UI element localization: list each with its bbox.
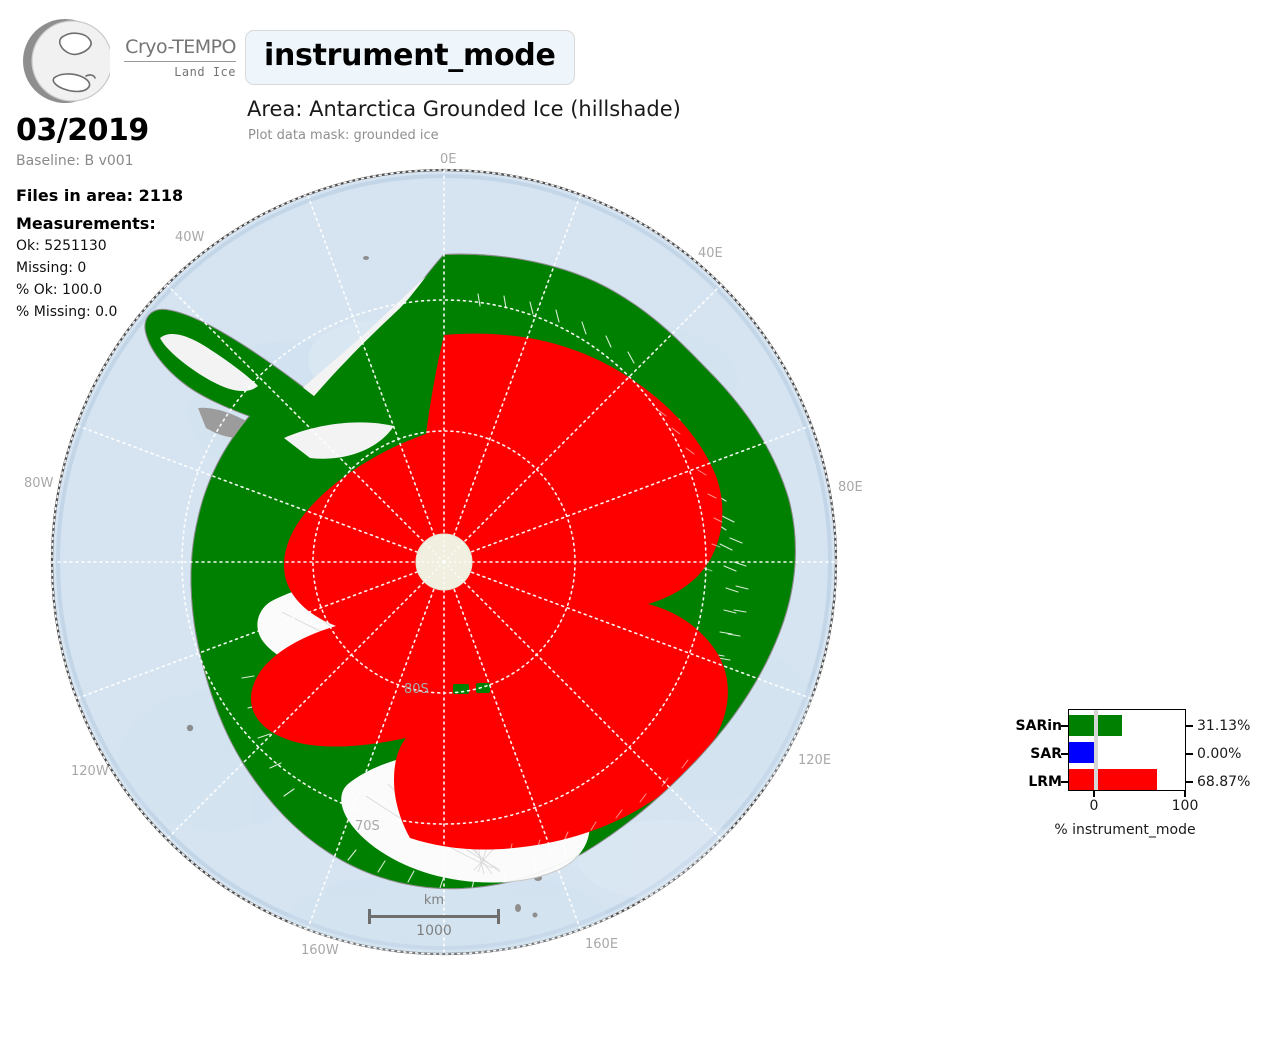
bar-lrm[interactable] [1069, 769, 1157, 790]
bar-tick-right-sar [1186, 753, 1193, 755]
bar-tick-sarin [1061, 725, 1068, 727]
lon-label-120e: 120E [798, 753, 831, 768]
bar-tick-right-lrm [1186, 781, 1193, 783]
bar-category-label-sarin: SARin [942, 718, 1062, 734]
logo-subtitle: Land Ice [116, 65, 236, 79]
bar-xtick-label-0: 0 [1090, 798, 1099, 814]
logo-divider [124, 61, 236, 62]
lon-label-80w: 80W [24, 476, 53, 491]
globe-antarctica-icon [20, 16, 110, 106]
bar-zero-line [1094, 710, 1098, 790]
scalebar-value: 1000 [366, 923, 502, 939]
lon-label-40w: 40W [175, 230, 204, 245]
bar-value-sar: 0.00% [1197, 746, 1241, 762]
plot-mask-subtitle: Plot data mask: grounded ice [248, 127, 439, 145]
bar-xtick-100 [1184, 791, 1186, 797]
lon-label-160e: 160E [585, 937, 618, 952]
app-logo: Cryo-TEMPO Land Ice [14, 12, 234, 104]
period-label: 03/2019 [16, 112, 231, 150]
lon-label-40e: 40E [698, 246, 723, 261]
logo-title: Cryo-TEMPO [116, 36, 236, 58]
bar-plot-area [1068, 709, 1186, 791]
lon-label-120w: 120W [71, 764, 109, 779]
instrument-mode-bar-chart: SARin SAR LRM 31.13% 0.00% 68.87% 0 100 … [1000, 700, 1262, 850]
bar-xtick-0 [1093, 791, 1095, 797]
lat-label-70s: 70S [355, 819, 380, 834]
bar-category-label-lrm: LRM [942, 774, 1062, 790]
map-canvas [48, 160, 840, 965]
lon-label-160w: 160W [301, 943, 339, 958]
bar-tick-right-sarin [1186, 725, 1193, 727]
bar-x-axis-label: % instrument_mode [1000, 822, 1250, 838]
bar-value-lrm: 68.87% [1197, 774, 1250, 790]
area-title: Area: Antarctica Grounded Ice (hillshade… [247, 96, 681, 123]
lon-label-0e: 0E [440, 152, 457, 167]
bar-tick-sar [1061, 753, 1068, 755]
antarctica-map[interactable]: 80S 70S [48, 160, 840, 965]
lon-label-80e: 80E [838, 480, 863, 495]
map-scalebar: km 1000 [366, 893, 502, 943]
variable-badge[interactable]: instrument_mode [245, 30, 575, 85]
bar-category-label-sar: SAR [942, 746, 1062, 762]
scalebar-line [368, 915, 500, 918]
scalebar-unit: km [366, 893, 502, 908]
bar-tick-lrm [1061, 781, 1068, 783]
bar-sar[interactable] [1069, 742, 1094, 763]
lat-label-80s: 80S [404, 682, 429, 697]
bar-value-sarin: 31.13% [1197, 718, 1250, 734]
bar-xtick-label-100: 100 [1172, 798, 1199, 814]
